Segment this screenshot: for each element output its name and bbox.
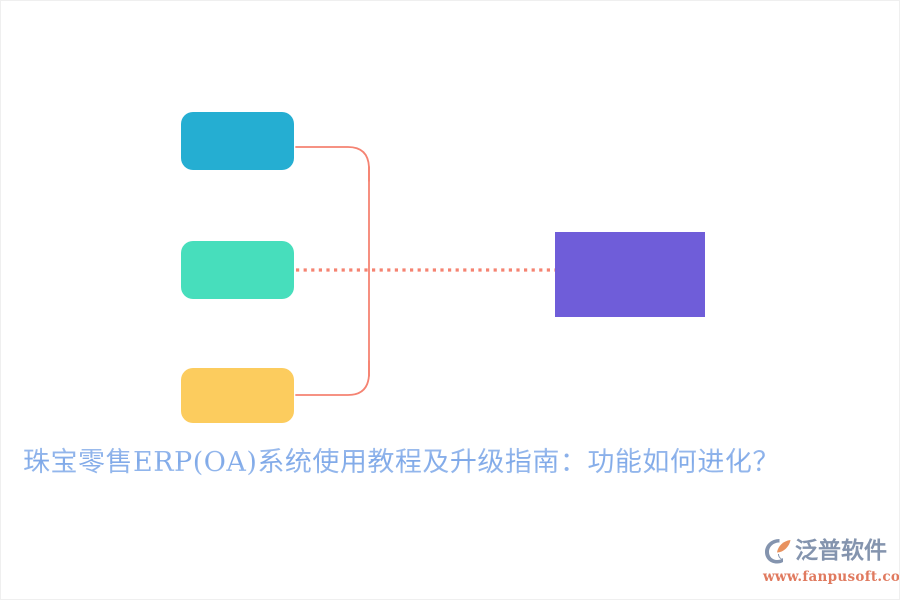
logo-url: www.fanpusoft.com <box>763 569 891 585</box>
connector-bracket-orange <box>296 361 369 395</box>
diagram-canvas: 珠宝零售ERP(OA)系统使用教程及升级指南：功能如何进化？ 泛普软件 www.… <box>0 0 900 600</box>
logo-wordmark: 泛普软件 <box>795 536 887 566</box>
node-purple[interactable] <box>555 232 705 317</box>
logo-row: 泛普软件 <box>763 534 891 568</box>
connector-bracket-blue <box>296 147 369 181</box>
page-title: 珠宝零售ERP(OA)系统使用教程及升级指南：功能如何进化？ <box>23 443 883 483</box>
node-orange[interactable] <box>181 368 294 423</box>
brand-logo[interactable]: 泛普软件 www.fanpusoft.com <box>763 534 891 590</box>
node-blue[interactable] <box>181 112 294 170</box>
node-green[interactable] <box>181 241 294 299</box>
fanpu-swoosh-icon <box>763 536 793 566</box>
connector-layer <box>1 1 900 600</box>
